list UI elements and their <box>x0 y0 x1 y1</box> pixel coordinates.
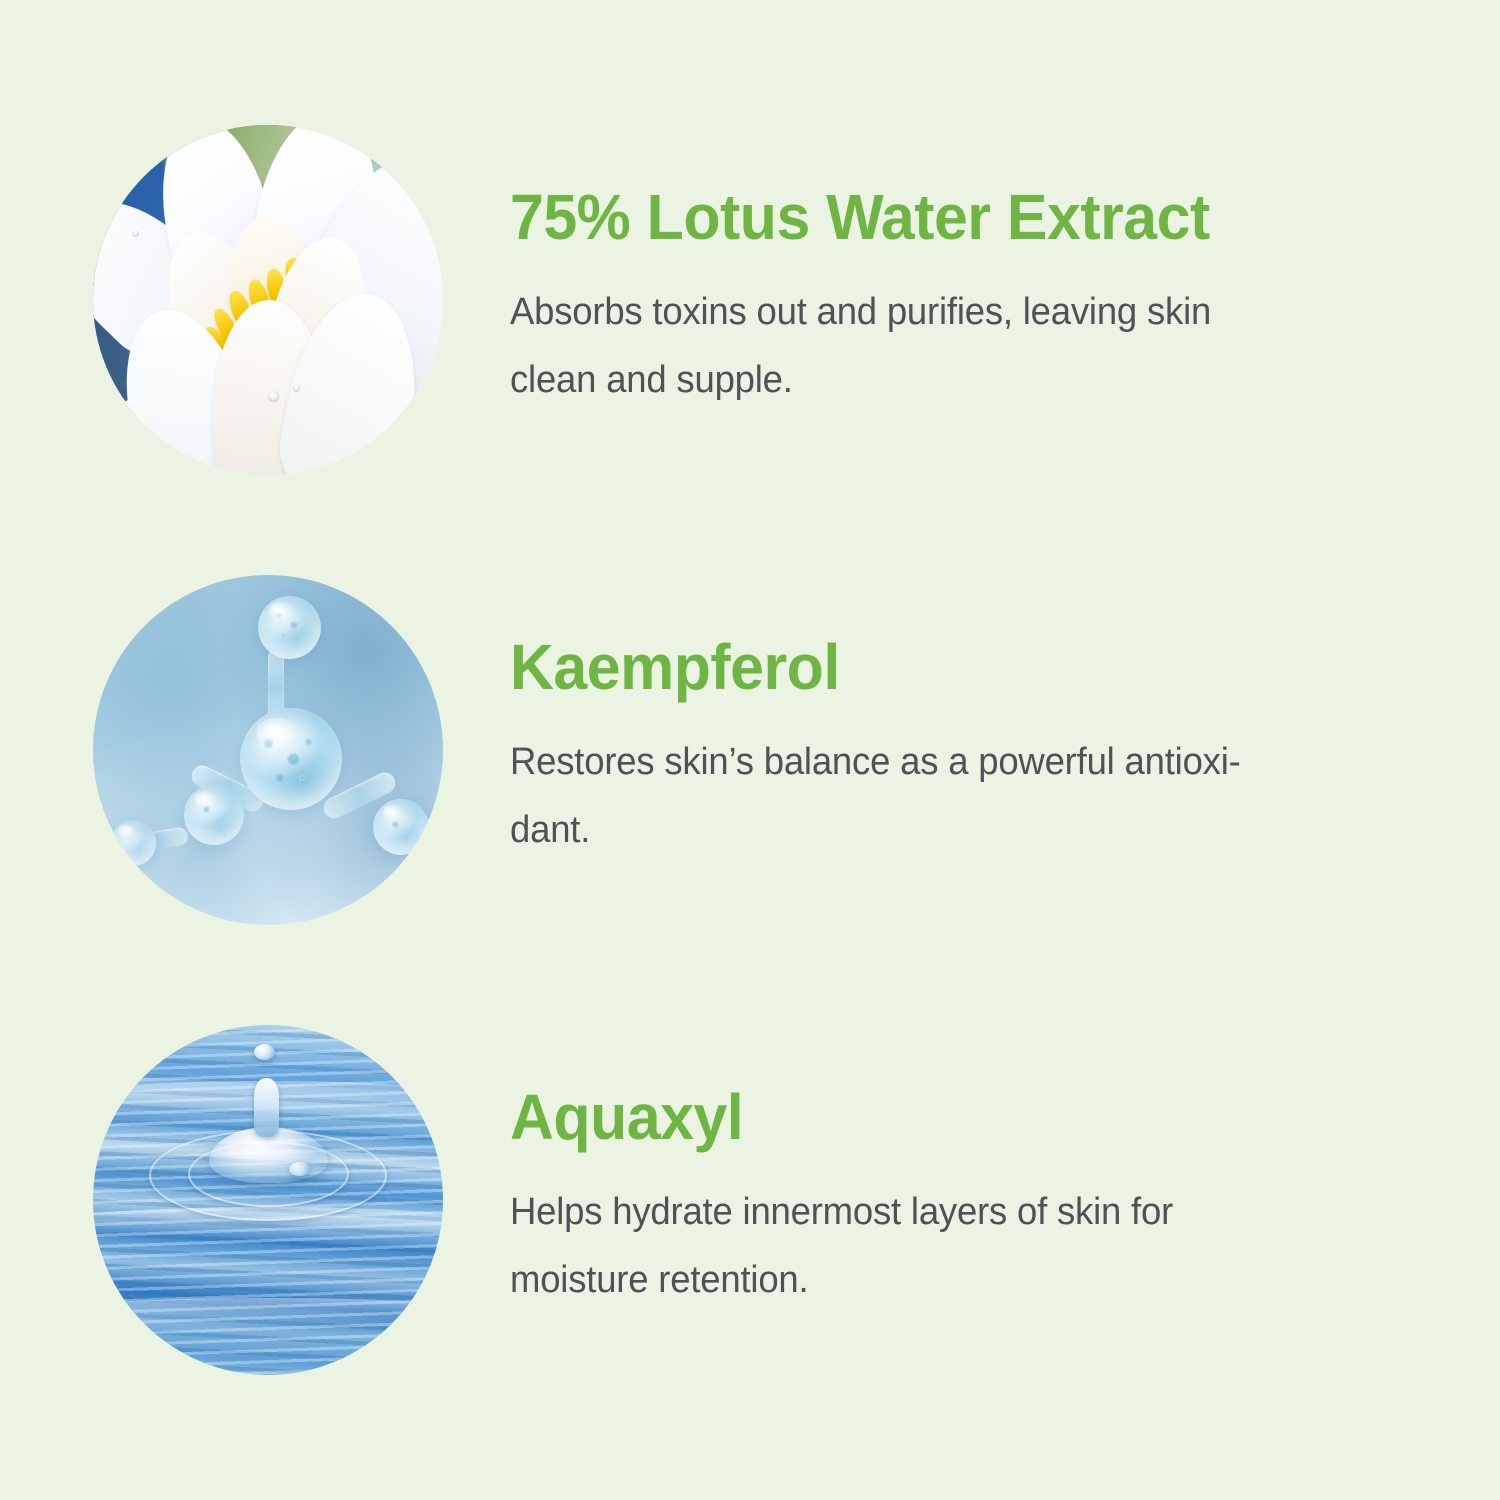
water-droplet-on-petal <box>293 384 301 392</box>
bubble <box>290 621 298 629</box>
bubble <box>217 818 222 823</box>
lotus-flower-photo <box>93 125 443 475</box>
feature-description-line: dant. <box>510 797 1374 865</box>
molecule-atom-right <box>373 799 429 855</box>
feature-description: Helps hydrate innermost layers of skin f… <box>510 1179 1374 1314</box>
molecule-photo <box>93 575 443 925</box>
feature-title: Kaempferol <box>510 635 1403 699</box>
water-droplet-on-petal <box>132 230 139 237</box>
feature-description: Absorbs toxins out and purifies, leaving… <box>510 279 1374 414</box>
molecule-atom-top <box>258 596 321 659</box>
ingredient-benefits-infographic: 75% Lotus Water Extract Absorbs toxins o… <box>0 0 1500 1500</box>
water-droplet-image-art <box>93 1025 443 1375</box>
bubble <box>287 753 300 766</box>
splash-column <box>254 1078 279 1138</box>
droplet-reflection <box>289 1162 310 1176</box>
feature-title: Aquaxyl <box>510 1085 1403 1149</box>
bubble <box>392 821 399 828</box>
falling-droplet <box>254 1044 275 1060</box>
feature-description: Restores skin’s balance as a powerful an… <box>510 729 1374 864</box>
molecule-atom-center <box>240 708 342 810</box>
bubble <box>275 773 285 783</box>
feature-description-line: Absorbs toxins out and purifies, leaving… <box>510 279 1374 347</box>
feature-description-line: Helps hydrate innermost layers of skin f… <box>510 1179 1374 1247</box>
feature-title: 75% Lotus Water Extract <box>510 185 1403 249</box>
feature-copy-kaempferol: Kaempferol Restores skin’s balance as a … <box>510 575 1450 925</box>
molecule-image-art <box>93 575 443 925</box>
molecule-atom-far-left <box>111 820 157 866</box>
water-wave-band <box>93 1298 443 1326</box>
feature-description-line: Restores skin’s balance as a powerful an… <box>510 729 1374 797</box>
feature-row-aquaxyl: Aquaxyl Helps hydrate innermost layers o… <box>0 1025 1500 1375</box>
water-droplet-photo <box>93 1025 443 1375</box>
feature-row-kaempferol: Kaempferol Restores skin’s balance as a … <box>0 575 1500 925</box>
feature-description-line: clean and supple. <box>510 347 1374 415</box>
feature-row-lotus: 75% Lotus Water Extract Absorbs toxins o… <box>0 125 1500 475</box>
bubble <box>203 806 210 813</box>
feature-copy-aquaxyl: Aquaxyl Helps hydrate innermost layers o… <box>510 1025 1450 1375</box>
feature-description-line: moisture retention. <box>510 1247 1374 1315</box>
molecule-atom-left <box>184 785 244 845</box>
bubble <box>299 775 305 781</box>
bubble <box>264 738 273 747</box>
bubble <box>276 612 282 618</box>
bubble <box>281 633 285 637</box>
water-droplet-on-petal <box>268 391 279 402</box>
bubble <box>305 738 312 745</box>
lotus-image-art <box>93 125 443 475</box>
feature-copy-lotus: 75% Lotus Water Extract Absorbs toxins o… <box>510 125 1450 475</box>
